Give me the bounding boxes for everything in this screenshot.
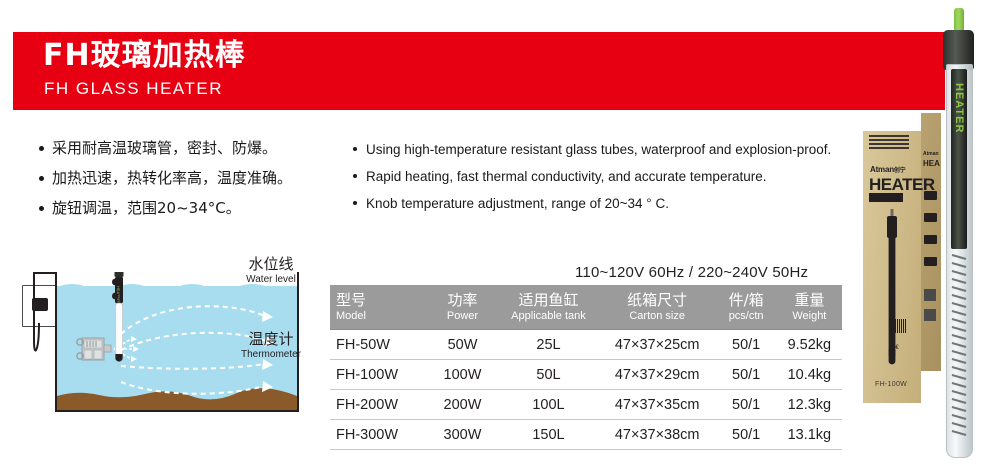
rod-heater-word: HEATER [953,83,965,233]
column-header-pcs-per-ctn: 件/箱 pcs/ctn [715,291,776,323]
list-item: Rapid heating, fast thermal conductivity… [352,167,872,186]
water-level-label: 水位线 Water level [223,255,319,286]
box-badge [869,193,903,202]
cell-weight: 10.4kg [777,367,842,383]
cell-carton: 47×37×29cm [599,367,716,383]
glass-tube: HEATER [946,64,973,458]
cell-tank: 50L [498,367,599,383]
product-spec-sheet: FH玻璃加热棒 FH GLASS HEATER 采用耐高温玻璃管，密封、防爆。 … [0,0,1000,468]
cell-model: FH-100W [330,367,427,383]
cell-weight: 12.3kg [777,397,842,413]
cell-carton: 47×37×38cm [599,427,716,443]
column-header-applicable-tank: 适用鱼缸 Applicable tank [498,291,599,323]
qr-code-icon [893,319,907,333]
heating-coil [951,251,967,451]
cell-model: FH-200W [330,397,427,413]
cell-power: 100W [427,367,498,383]
cell-model: FH-50W [330,337,427,353]
list-item: 采用耐高温玻璃管，密封、防爆。 [38,138,338,159]
filter-pump-icon [75,332,115,366]
page-title-cn: FH玻璃加热棒 [43,38,246,74]
list-item: 加热迅速，热转化率高，温度准确。 [38,168,338,189]
cell-pcs: 50/1 [715,337,776,353]
specification-table: 型号 Model 功率 Power 适用鱼缸 Applicable tank 纸… [330,285,842,450]
heater-rod: HEATER [937,8,979,460]
table-row: FH-300W 300W 150L 47×37×38cm 50/1 13.1kg [330,420,842,450]
cell-tank: 100L [498,397,599,413]
product-photo: Atman HEA Atman创宁 HEATER [855,0,1000,468]
product-box: Atman HEA Atman创宁 HEATER [863,113,941,403]
cell-power: 300W [427,427,498,443]
cell-pcs: 50/1 [715,427,776,443]
cell-tank: 150L [498,427,599,443]
table-row: FH-50W 50W 25L 47×37×25cm 50/1 9.52kg [330,329,842,360]
cell-power: 50W [427,337,498,353]
aquarium-diagram: HEATER [10,255,320,455]
box-model-label: FH-100W [875,381,907,388]
cell-model: FH-300W [330,427,427,443]
cell-pcs: 50/1 [715,397,776,413]
feature-list-english: Using high-temperature resistant glass t… [352,140,872,221]
column-header-power: 功率 Power [427,291,498,323]
brand-name: Atman创宁 [870,165,906,174]
cell-pcs: 50/1 [715,367,776,383]
table-header-row: 型号 Model 功率 Power 适用鱼缸 Applicable tank 纸… [330,285,842,329]
cell-carton: 47×37×35cm [599,397,716,413]
water-level-label-en: Water level [223,273,319,286]
water-level-label-cn: 水位线 [223,255,319,273]
cell-power: 200W [427,397,498,413]
table-row: FH-200W 200W 100L 47×37×35cm 50/1 12.3kg [330,390,842,420]
page-title-en: FH GLASS HEATER [44,78,223,100]
cell-weight: 13.1kg [777,427,842,443]
cell-carton: 47×37×25cm [599,337,716,353]
thermometer-label: 温度计 Thermometer [223,330,319,361]
box-top-print [869,135,909,149]
feature-list-chinese: 采用耐高温玻璃管，密封、防爆。 加热迅速，热转化率高，温度准确。 旋钮调温，范围… [38,138,338,228]
box-front-panel: Atman创宁 HEATER C€ FH-100W [863,131,921,403]
box-heater-word: HEATER [869,175,935,195]
cell-tank: 25L [498,337,599,353]
heater-upper-body: HEATER [951,69,967,249]
column-header-model: 型号 Model [330,291,427,323]
thermometer-label-cn: 温度计 [223,330,319,348]
list-item: Knob temperature adjustment, range of 20… [352,194,872,213]
voltage-rating: 110~120V 60Hz / 220~240V 50Hz [575,264,808,281]
thermometer-label-en: Thermometer [223,348,319,361]
column-header-weight: 重量 Weight [777,291,842,323]
column-header-carton-size: 纸箱尺寸 Carton size [599,291,716,323]
cell-weight: 9.52kg [777,337,842,353]
table-row: FH-100W 100W 50L 47×37×29cm 50/1 10.4kg [330,360,842,390]
list-item: Using high-temperature resistant glass t… [352,140,872,159]
ce-mark-icon: C€ [891,345,899,351]
table-body: FH-50W 50W 25L 47×37×25cm 50/1 9.52kg FH… [330,329,842,450]
title-banner: FH玻璃加热棒 FH GLASS HEATER [13,32,945,110]
list-item: 旋钮调温，范围20~34°C。 [38,198,338,219]
